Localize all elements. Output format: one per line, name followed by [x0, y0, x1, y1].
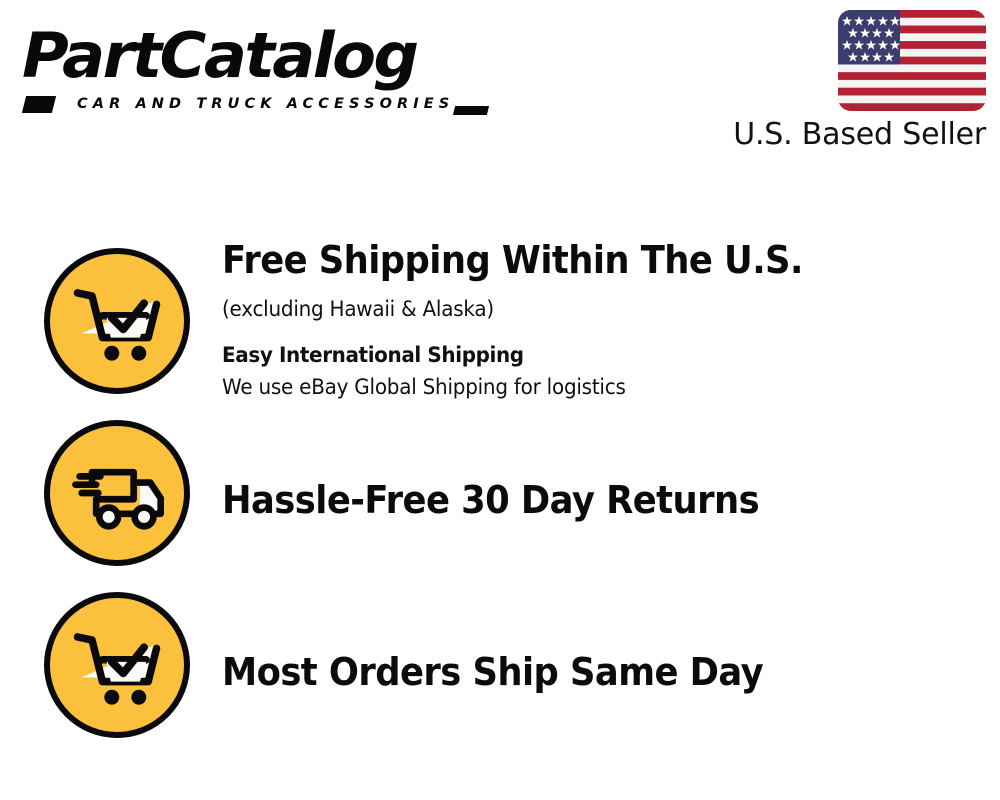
benefit-title: Hassle-Free 30 Day Returns — [222, 478, 929, 522]
logo-left-accent-bar — [22, 96, 56, 113]
us-flag-icon — [838, 10, 986, 111]
benefit-subtitle: (excluding Hawaii & Alaska) — [222, 294, 944, 324]
benefit-row: Most Orders Ship Same Day — [0, 580, 1000, 752]
benefit-title: Free Shipping Within The U.S. — [222, 238, 929, 282]
partcatalog-logo[interactable]: PartCatalog CAR AND TRUCK ACCESSORIES — [22, 18, 492, 114]
benefit-title: Most Orders Ship Same Day — [222, 650, 929, 694]
delivery-truck-icon — [44, 420, 190, 566]
brand-tagline-text: CAR AND TRUCK ACCESSORIES — [77, 96, 454, 112]
page-header: PartCatalog CAR AND TRUCK ACCESSORIES — [0, 0, 1000, 165]
shopping-cart-check-icon — [44, 592, 190, 738]
logo-right-accent-bar — [453, 106, 489, 115]
benefit-text-block: Free Shipping Within The U.S. (excluding… — [222, 236, 982, 402]
benefit-row: Free Shipping Within The U.S. (excluding… — [0, 236, 1000, 408]
benefit-row: Hassle-Free 30 Day Returns — [0, 408, 1000, 580]
shopping-cart-check-icon — [44, 248, 190, 394]
brand-wordmark-text: PartCatalog — [22, 18, 417, 94]
benefit-text-block: Most Orders Ship Same Day — [222, 580, 982, 694]
us-based-seller-label: U.S. Based Seller — [500, 117, 986, 152]
benefit-subtitle-detail: We use eBay Global Shipping for logistic… — [222, 372, 944, 402]
benefit-subtitle-bold: Easy International Shipping — [222, 340, 944, 370]
benefit-text-block: Hassle-Free 30 Day Returns — [222, 408, 982, 522]
